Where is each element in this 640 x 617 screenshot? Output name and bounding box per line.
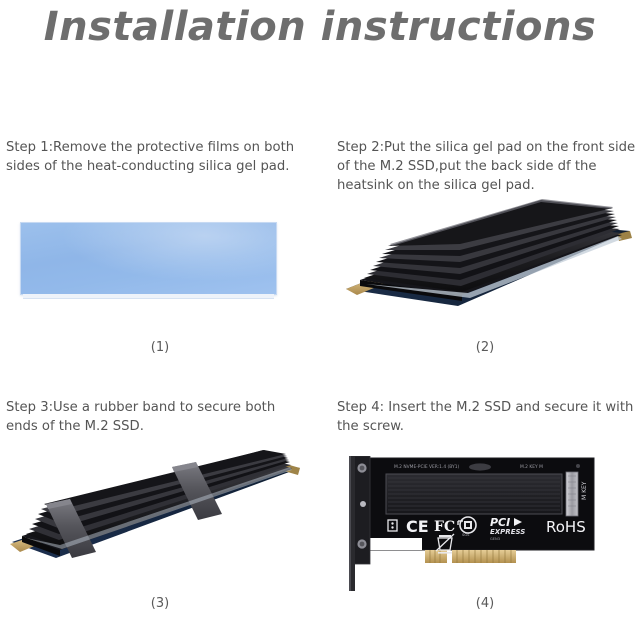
page-title: Installation instructions: [0, 2, 640, 52]
step-2-text: Step 2:Put the silica gel pad on the fro…: [337, 138, 637, 195]
svg-text:GEN3: GEN3: [490, 537, 500, 541]
fcc-mark-text: FC: [434, 519, 455, 535]
svg-text:M KEY: M KEY: [581, 481, 588, 500]
pcie-gold-fingers: [425, 550, 516, 563]
heatsink-bands-drawing: [0, 450, 320, 590]
card-silkscreen-top-left: M.2 NVME-PCIE VER:1.4 (BY1): [394, 464, 459, 470]
figure-silica-gel-pad: [0, 200, 320, 310]
figure-pcie-m2-adapter-card: M KEY M.2 NVME-PCIE VER:1.4 (BY1) M.2 KE…: [330, 456, 640, 586]
ce-mark-text: CE: [406, 517, 429, 536]
caption-1: (1): [0, 340, 320, 355]
rohs-mark-text: RoHS: [546, 518, 586, 536]
step-panel-4: Step 4: Insert the M.2 SSD and secure it…: [330, 398, 640, 617]
step-panel-1: Step 1:Remove the protective films on bo…: [0, 138, 320, 388]
heatsink-drawing: [330, 194, 640, 319]
step-4-text: Step 4: Insert the M.2 SSD and secure it…: [337, 398, 637, 436]
silica-gel-pad-shape: [20, 222, 277, 295]
pcie-bracket: [349, 456, 370, 591]
figure-m2-ssd-with-heatsink: [330, 194, 640, 319]
pcie-card-drawing: M KEY M.2 NVME-PCIE VER:1.4 (BY1) M.2 KE…: [330, 456, 640, 591]
pad-sheen: [21, 223, 276, 294]
step-1-text: Step 1:Remove the protective films on bo…: [6, 138, 306, 176]
step-3-text: Step 3:Use a rubber band to secure both …: [6, 398, 306, 436]
step-panel-2: Step 2:Put the silica gel pad on the fro…: [330, 138, 640, 388]
svg-text:SGS: SGS: [462, 533, 470, 537]
svg-text:EXPRESS: EXPRESS: [490, 528, 525, 536]
card-silkscreen-top-right: M.2 KEY M: [520, 464, 543, 470]
caption-2: (2): [330, 340, 640, 355]
caption-4: (4): [330, 596, 640, 611]
caption-3: (3): [0, 596, 320, 611]
installation-instructions-page: Installation instructions Step 1:Remove …: [0, 0, 640, 617]
step-panel-3: Step 3:Use a rubber band to secure both …: [0, 398, 320, 617]
figure-m2-ssd-with-rubber-bands: [0, 450, 320, 590]
